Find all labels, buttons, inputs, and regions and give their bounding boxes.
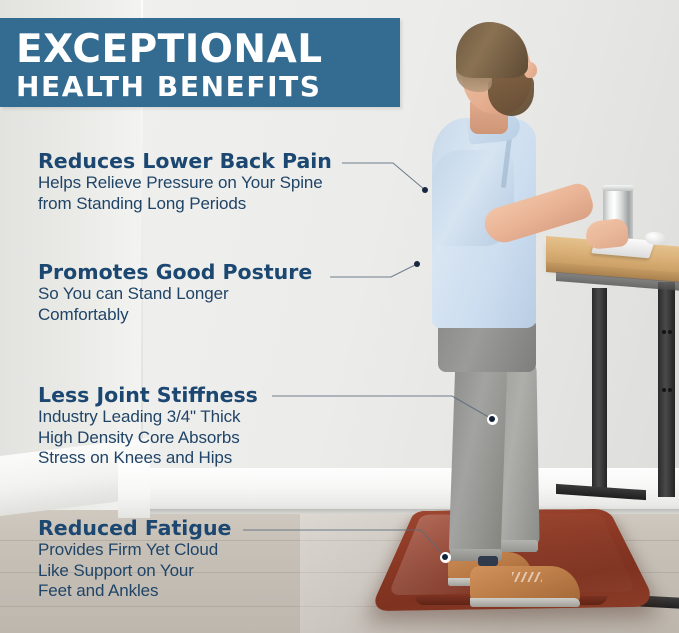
benefit-block-less-joint-stiffness: Less Joint Stiffness Industry Leading 3/… bbox=[38, 383, 258, 469]
benefit-line: Comfortably bbox=[38, 305, 312, 326]
benefit-title: Reduces Lower Back Pain bbox=[38, 149, 332, 173]
benefit-line: Industry Leading 3/4" Thick bbox=[38, 407, 258, 428]
benefit-line: Like Support on Your bbox=[38, 561, 231, 582]
benefit-line: from Standing Long Periods bbox=[38, 194, 332, 215]
benefit-block-promotes-good-posture: Promotes Good Posture So You can Stand L… bbox=[38, 260, 312, 325]
benefit-line: So You can Stand Longer bbox=[38, 284, 312, 305]
callout-dot-lower-back bbox=[422, 187, 428, 193]
benefit-title: Less Joint Stiffness bbox=[38, 383, 258, 407]
near-shoe-sole bbox=[470, 598, 580, 607]
sock bbox=[478, 556, 498, 566]
benefit-line: High Density Core Absorbs bbox=[38, 428, 258, 449]
banner-title-line2: HEALTH BENEFITS bbox=[16, 71, 386, 103]
header-banner-inner: EXCEPTIONAL HEALTH BENEFITS bbox=[0, 18, 400, 107]
benefit-title: Promotes Good Posture bbox=[38, 260, 312, 284]
benefit-block-reduced-fatigue: Reduced Fatigue Provides Firm Yet Cloud … bbox=[38, 516, 231, 602]
benefit-line: Helps Relieve Pressure on Your Spine bbox=[38, 173, 332, 194]
callout-dot-posture bbox=[414, 261, 420, 267]
callout-marker-mat-core bbox=[442, 554, 448, 560]
beard bbox=[488, 72, 534, 116]
health-benefits-poster: EXCEPTIONAL HEALTH BENEFITS Reduces Lowe… bbox=[0, 0, 679, 633]
hair bbox=[456, 22, 528, 78]
benefit-line: Feet and Ankles bbox=[38, 581, 231, 602]
shoe-laces bbox=[512, 572, 542, 582]
benefit-title: Reduced Fatigue bbox=[38, 516, 231, 540]
near-leg bbox=[449, 359, 508, 559]
banner-title-line1: EXCEPTIONAL bbox=[16, 29, 386, 71]
header-banner: EXCEPTIONAL HEALTH BENEFITS bbox=[0, 18, 400, 107]
benefit-line: Stress on Knees and Hips bbox=[38, 448, 258, 469]
callout-marker-knee-core bbox=[489, 416, 495, 422]
hand bbox=[585, 218, 630, 250]
benefit-block-reduces-lower-back-pain: Reduces Lower Back Pain Helps Relieve Pr… bbox=[38, 149, 332, 214]
benefit-line: Provides Firm Yet Cloud bbox=[38, 540, 231, 561]
